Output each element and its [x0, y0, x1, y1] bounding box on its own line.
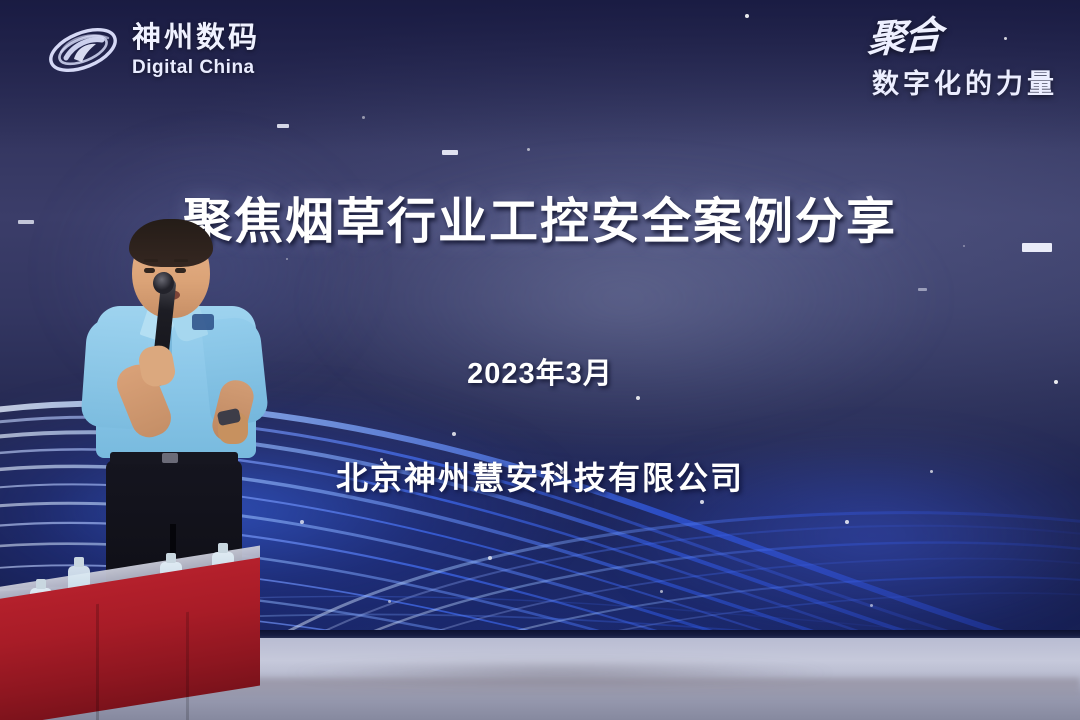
speaker-hair — [129, 219, 213, 267]
slogan-calligraphy: 聚合 — [867, 16, 941, 59]
screenshot-root: 神州数码 Digital China 聚合 数字化的力量 聚焦烟草行业工控安全案… — [0, 0, 1080, 720]
brand-name-en: Digital China — [132, 58, 260, 77]
digital-china-swirl-logo-icon — [44, 18, 122, 82]
speaker-brow-right — [174, 259, 188, 262]
speaker-eye-right — [175, 268, 186, 273]
brand-logo: 神州数码 Digital China — [44, 18, 260, 82]
brand-name-cn: 神州数码 — [132, 24, 260, 53]
speaker-belt-buckle — [162, 453, 178, 463]
table-cloth-fold — [186, 612, 189, 720]
table-cloth-fold — [96, 604, 99, 720]
slogan-subtitle: 数字化的力量 — [868, 62, 1058, 101]
event-slogan: 聚合 数字化的力量 — [868, 18, 1058, 101]
speaker-chest-logo-icon — [192, 314, 214, 330]
speaker-brow-left — [144, 259, 158, 262]
speaker-eye-left — [144, 268, 155, 273]
